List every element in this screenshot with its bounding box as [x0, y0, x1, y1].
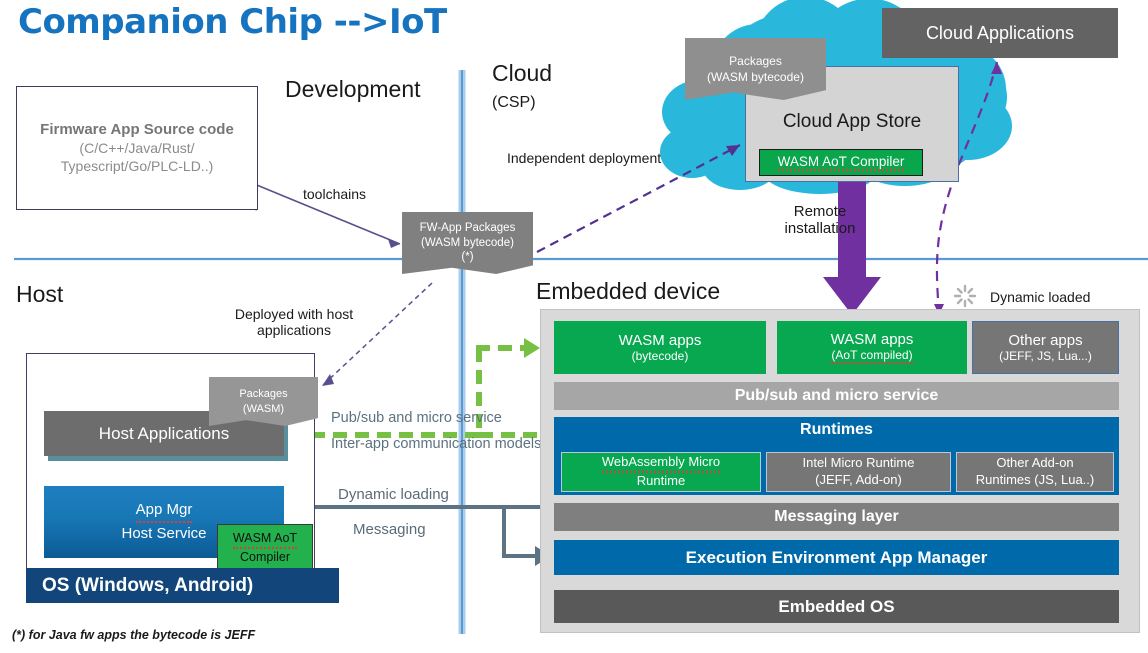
host-aot-line1: WASM AoT — [233, 530, 297, 549]
deployed-line2: applications — [219, 322, 369, 338]
cloud-packages-callout[interactable]: Packages (WASM bytecode) — [685, 38, 826, 100]
cloud-app-store-title: Cloud App Store — [746, 111, 958, 133]
embedded-messaging-label: Messaging layer — [774, 508, 899, 526]
host-aot-line2: Compiler — [240, 549, 290, 566]
label-dynamic-loaded: Dynamic loaded — [990, 289, 1090, 305]
runtime-2-line1: Other Add-on — [996, 455, 1073, 472]
app-mgr-line2: Host Service — [121, 523, 206, 545]
embedded-app-1-name: WASM apps — [831, 331, 914, 348]
label-remote-installation: Remote installation — [775, 203, 865, 237]
runtime-1-line2: (JEFF, Add-on) — [815, 472, 902, 489]
arrow-pubsub-green — [287, 338, 540, 445]
embedded-app-2-name: Other apps — [1008, 332, 1082, 349]
runtime-0-line2: Runtime — [637, 473, 685, 490]
embedded-app-1-sub: (AoT compiled) — [831, 348, 912, 364]
embedded-messaging-layer[interactable]: Messaging layer — [554, 503, 1119, 531]
runtime-cell-other-addon[interactable]: Other Add-on Runtimes (JS, Lua..) — [956, 452, 1114, 492]
embedded-app-wasm-aot[interactable]: WASM apps (AoT compiled) — [777, 321, 967, 374]
host-packages-callout[interactable]: Packages (WASM) — [209, 377, 318, 426]
firmware-app-source-box[interactable]: Firmware App Source code (C/C++/Java/Rus… — [16, 86, 258, 210]
dynamic-loaded-icon — [955, 286, 975, 306]
embedded-app-manager-label: Execution Environment App Manager — [686, 548, 988, 568]
remote-installation-line1: Remote — [775, 203, 865, 220]
label-messaging: Messaging — [353, 521, 426, 538]
firmware-source-line2: (C/C++/Java/Rust/ — [79, 140, 194, 158]
embedded-app-0-name: WASM apps — [619, 332, 702, 349]
runtime-1-line1: Intel Micro Runtime — [803, 455, 915, 472]
cloud-wasm-aot-compiler[interactable]: WASM AoT Compiler — [759, 149, 923, 176]
fw-packages-line3: (*) — [461, 250, 473, 265]
fw-packages-line1: FW-App Packages — [420, 221, 516, 236]
zone-label-development: Development — [285, 76, 421, 103]
embedded-app-wasm-bytecode[interactable]: WASM apps (bytecode) — [554, 321, 766, 374]
embedded-runtimes-title: Runtimes — [554, 421, 1119, 439]
footnote: (*) for Java fw apps the bytecode is JEF… — [12, 628, 255, 642]
firmware-source-line3: Typescript/Go/PLC-LD..) — [61, 158, 214, 176]
label-inter-app-communication: Inter-app communication models — [331, 436, 541, 452]
runtime-2-line2: Runtimes (JS, Lua..) — [976, 472, 1095, 489]
label-pubsub-micro-service: Pub/sub and micro service — [331, 410, 502, 426]
runtime-cell-wamr[interactable]: WebAssembly Micro Runtime — [561, 452, 761, 492]
zone-label-embedded-device: Embedded device — [536, 278, 720, 305]
fw-packages-line2: (WASM bytecode) — [421, 236, 514, 251]
arrow-remote-installation — [823, 172, 881, 315]
deployed-line1: Deployed with host — [219, 306, 369, 322]
host-os-label: OS (Windows, Android) — [42, 575, 253, 597]
cloud-aot-compiler-label: WASM AoT Compiler — [778, 154, 905, 171]
host-wasm-aot-compiler[interactable]: WASM AoT Compiler — [217, 524, 313, 572]
firmware-source-heading: Firmware App Source code — [40, 121, 234, 138]
label-deployed-with-host: Deployed with host applications — [219, 306, 369, 338]
zone-label-host: Host — [16, 281, 63, 308]
cloud-applications-box[interactable]: Cloud Applications — [882, 8, 1118, 58]
embedded-app-manager-layer[interactable]: Execution Environment App Manager — [554, 540, 1119, 575]
runtime-0-line1: WebAssembly Micro — [602, 454, 720, 473]
embedded-app-other[interactable]: Other apps (JEFF, JS, Lua...) — [972, 321, 1119, 374]
remote-installation-line2: installation — [775, 220, 865, 237]
host-packages-line1: Packages — [239, 387, 287, 402]
host-os-bar[interactable]: OS (Windows, Android) — [26, 568, 339, 603]
embedded-pubsub-label: Pub/sub and micro service — [735, 387, 939, 405]
embedded-app-0-sub: (bytecode) — [632, 349, 689, 363]
cloud-applications-label: Cloud Applications — [926, 23, 1074, 44]
label-independent-deployment: Independent deployment — [507, 150, 661, 166]
slide-canvas: Companion Chip -->IoT Development Cloud … — [0, 0, 1148, 653]
label-dynamic-loading: Dynamic loading — [338, 486, 449, 503]
embedded-pubsub-layer[interactable]: Pub/sub and micro service — [554, 382, 1119, 410]
embedded-app-2-sub: (JEFF, JS, Lua...) — [999, 349, 1092, 363]
embedded-runtimes-layer[interactable]: Runtimes WebAssembly Micro Runtime Intel… — [554, 417, 1119, 495]
zone-label-cloud-sub: (CSP) — [492, 94, 536, 112]
zone-label-cloud: Cloud — [492, 60, 552, 87]
page-title: Companion Chip -->IoT — [18, 2, 447, 42]
embedded-os-label: Embedded OS — [778, 597, 894, 617]
host-applications-label: Host Applications — [99, 424, 229, 444]
runtime-cell-intel-micro[interactable]: Intel Micro Runtime (JEFF, Add-on) — [766, 452, 951, 492]
host-packages-line2: (WASM) — [243, 402, 284, 417]
app-mgr-line1: App Mgr — [136, 499, 193, 523]
fw-app-packages-callout[interactable]: FW-App Packages (WASM bytecode) (*) — [402, 212, 533, 274]
label-toolchains: toolchains — [303, 186, 366, 202]
cloud-packages-line1: Packages — [729, 53, 782, 69]
embedded-os-layer[interactable]: Embedded OS — [554, 590, 1119, 623]
cloud-packages-line2: (WASM bytecode) — [707, 69, 804, 85]
